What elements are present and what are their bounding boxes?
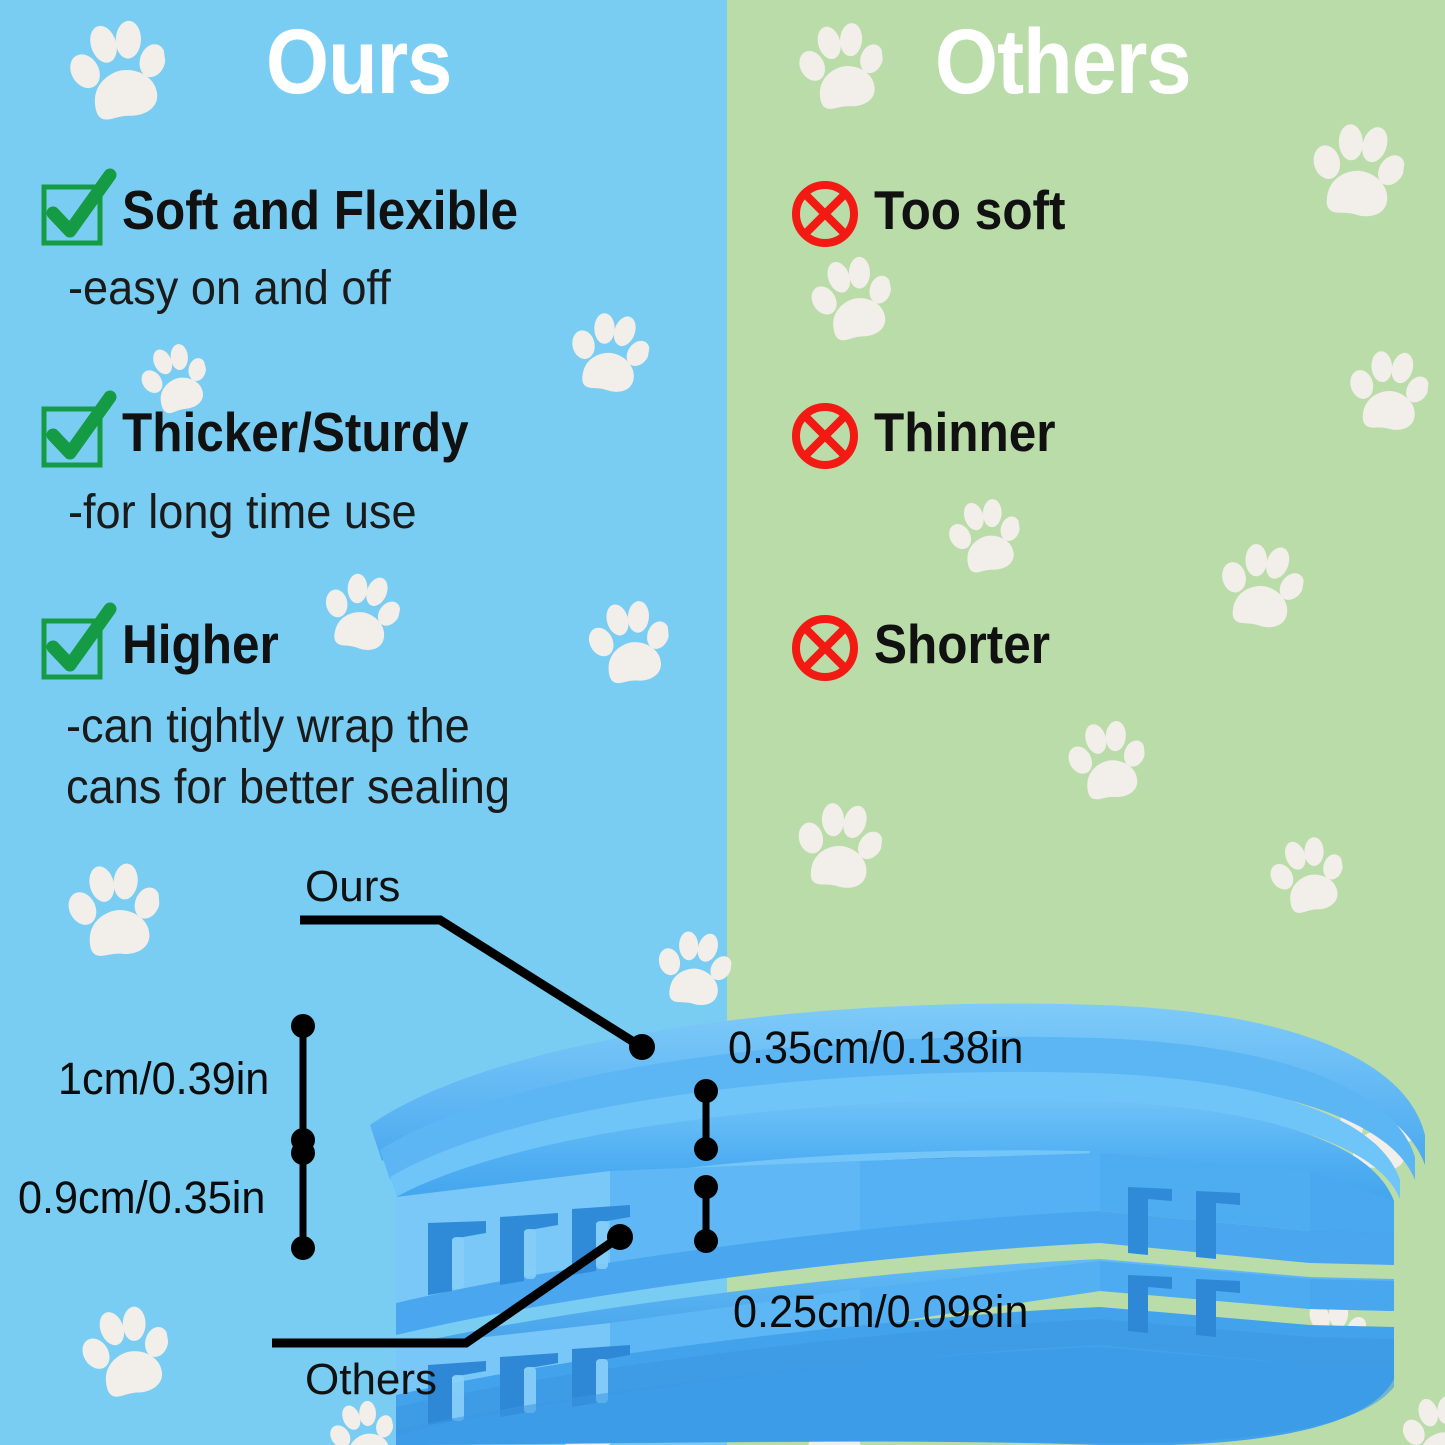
check-icon <box>42 615 100 673</box>
feature-thicker-sturdy: Thicker/Sturdy <box>42 400 507 464</box>
others-panel-title: Others <box>935 10 1191 115</box>
x-circle-icon <box>790 613 852 675</box>
feature-shorter: Shorter <box>790 612 1070 676</box>
feature-title: Thicker/Sturdy <box>122 400 469 464</box>
feature-thinner: Thinner <box>790 400 1076 464</box>
check-icon <box>42 403 100 461</box>
dimension-others-thickness: 0.25cm/0.098in <box>733 1286 1028 1338</box>
others-callout-label: Others <box>305 1355 437 1405</box>
feature-title: Soft and Flexible <box>122 178 518 242</box>
feature-too-soft: Too soft <box>790 178 1087 242</box>
comparison-infographic: Ours Others Soft and Flexible -easy on a… <box>0 0 1445 1445</box>
feature-subtitle: -for long time use <box>68 482 417 543</box>
feature-title: Too soft <box>874 178 1066 242</box>
ours-callout-label: Ours <box>305 862 400 912</box>
dimension-ours-height: 1cm/0.39in <box>58 1053 269 1105</box>
ours-panel-title: Ours <box>266 10 451 115</box>
feature-subtitle: -easy on and off <box>68 258 391 319</box>
feature-title: Higher <box>122 612 279 676</box>
x-circle-icon <box>790 401 852 463</box>
feature-title: Shorter <box>874 612 1050 676</box>
feature-soft-and-flexible: Soft and Flexible <box>42 178 562 242</box>
x-circle-icon <box>790 179 852 241</box>
dimension-others-height: 0.9cm/0.35in <box>18 1172 265 1224</box>
feature-higher: Higher <box>42 612 296 676</box>
check-icon <box>42 181 100 239</box>
feature-title: Thinner <box>874 400 1056 464</box>
dimension-ours-thickness: 0.35cm/0.138in <box>728 1022 1023 1074</box>
feature-subtitle: -can tightly wrap the cans for better se… <box>66 696 510 819</box>
